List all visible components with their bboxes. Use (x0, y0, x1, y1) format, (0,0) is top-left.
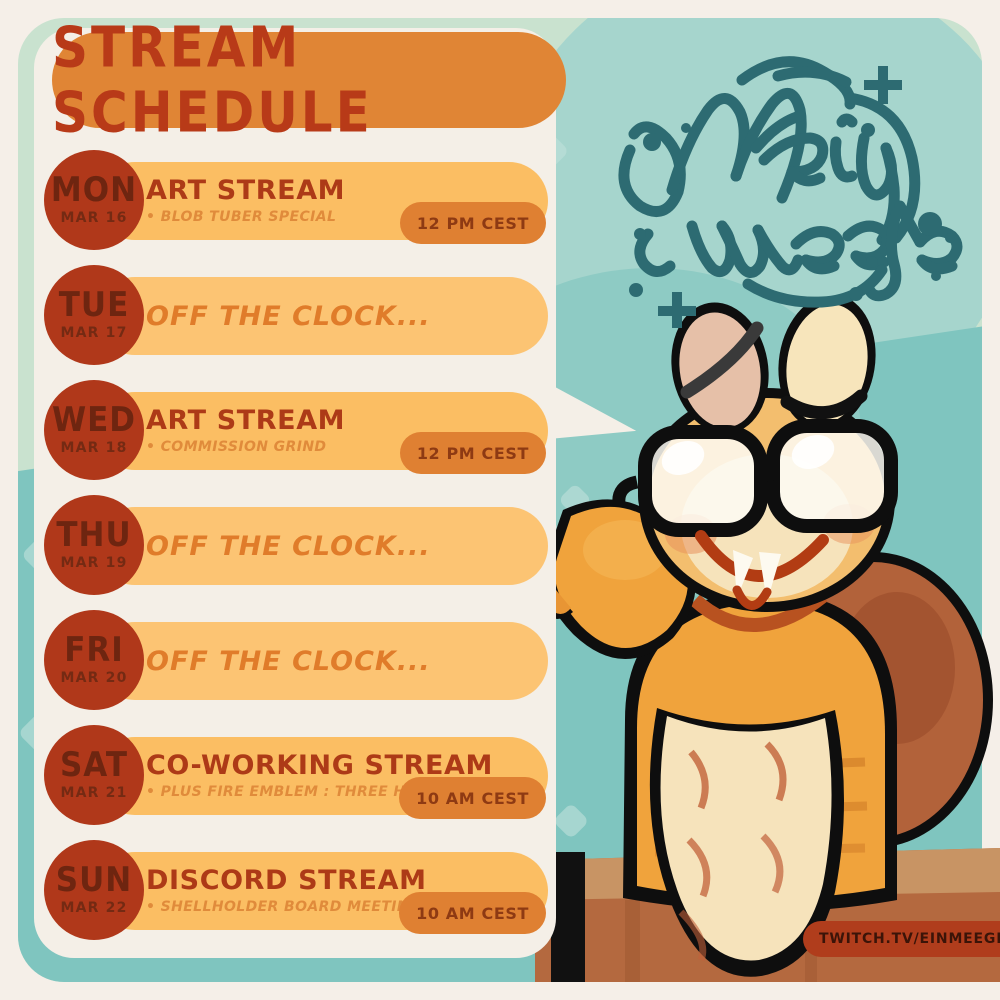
page-title: STREAM SCHEDULE (52, 15, 566, 145)
schedule-row[interactable]: OFF THE CLOCK...FRIMAR 20 (0, 612, 560, 720)
day-date: MAR 16 (60, 210, 127, 226)
day-circle: TUEMAR 17 (44, 265, 144, 365)
day-date: MAR 22 (60, 900, 127, 916)
day-date: MAR 19 (60, 555, 127, 571)
day-date: MAR 20 (60, 670, 127, 686)
schedule-row[interactable]: ART STREAM• COMMISSION GRIND12 PM CESTWE… (0, 382, 560, 490)
schedule-row[interactable]: ART STREAM• BLOB TUBER SPECIAL12 PM CEST… (0, 152, 560, 260)
event-offday-label: OFF THE CLOCK... (146, 531, 546, 562)
event-time-label: 10 AM CEST (416, 904, 529, 923)
schedule-row-content: OFF THE CLOCK... (146, 277, 546, 355)
event-time-badge: 12 PM CEST (400, 432, 546, 474)
event-time-label: 12 PM CEST (417, 444, 529, 463)
day-date: MAR 21 (60, 785, 127, 801)
event-time-label: 12 PM CEST (417, 214, 529, 233)
schedule-row-content: OFF THE CLOCK... (146, 622, 546, 700)
day-circle: WEDMAR 18 (44, 380, 144, 480)
event-time-badge: 10 AM CEST (399, 777, 546, 819)
schedule-graphic: TWITCH.TV/EINMEEGLE (0, 0, 1000, 1000)
event-time-badge: 12 PM CEST (400, 202, 546, 244)
day-abbreviation: THU (56, 518, 131, 551)
schedule-row[interactable]: DISCORD STREAM• SHELLHOLDER BOARD MEETIN… (0, 842, 560, 950)
event-offday-label: OFF THE CLOCK... (146, 646, 546, 677)
day-circle: THUMAR 19 (44, 495, 144, 595)
day-abbreviation: WED (52, 403, 136, 436)
schedule-row[interactable]: OFF THE CLOCK...TUEMAR 17 (0, 267, 560, 375)
day-abbreviation: SUN (56, 863, 132, 896)
schedule-row[interactable]: CO-WORKING STREAM• PLUS FIRE EMBLEM : TH… (0, 727, 560, 835)
twitch-url-badge[interactable]: TWITCH.TV/EINMEEGLE (803, 921, 1000, 957)
brand-logo (600, 38, 980, 328)
day-date: MAR 18 (60, 440, 127, 456)
day-circle: SUNMAR 22 (44, 840, 144, 940)
day-circle: SATMAR 21 (44, 725, 144, 825)
day-abbreviation: SAT (60, 748, 128, 781)
schedule-row[interactable]: OFF THE CLOCK...THUMAR 19 (0, 497, 560, 605)
title-banner: STREAM SCHEDULE (52, 32, 566, 128)
day-circle: FRIMAR 20 (44, 610, 144, 710)
day-abbreviation: MON (51, 173, 137, 206)
event-time-badge: 10 AM CEST (399, 892, 546, 934)
day-date: MAR 17 (60, 325, 127, 341)
day-abbreviation: TUE (59, 288, 130, 321)
day-abbreviation: FRI (64, 633, 124, 666)
schedule-row-content: OFF THE CLOCK... (146, 507, 546, 585)
day-circle: MONMAR 16 (44, 150, 144, 250)
twitch-url-label: TWITCH.TV/EINMEEGLE (819, 931, 1000, 947)
event-offday-label: OFF THE CLOCK... (146, 301, 546, 332)
event-time-label: 10 AM CEST (416, 789, 529, 808)
